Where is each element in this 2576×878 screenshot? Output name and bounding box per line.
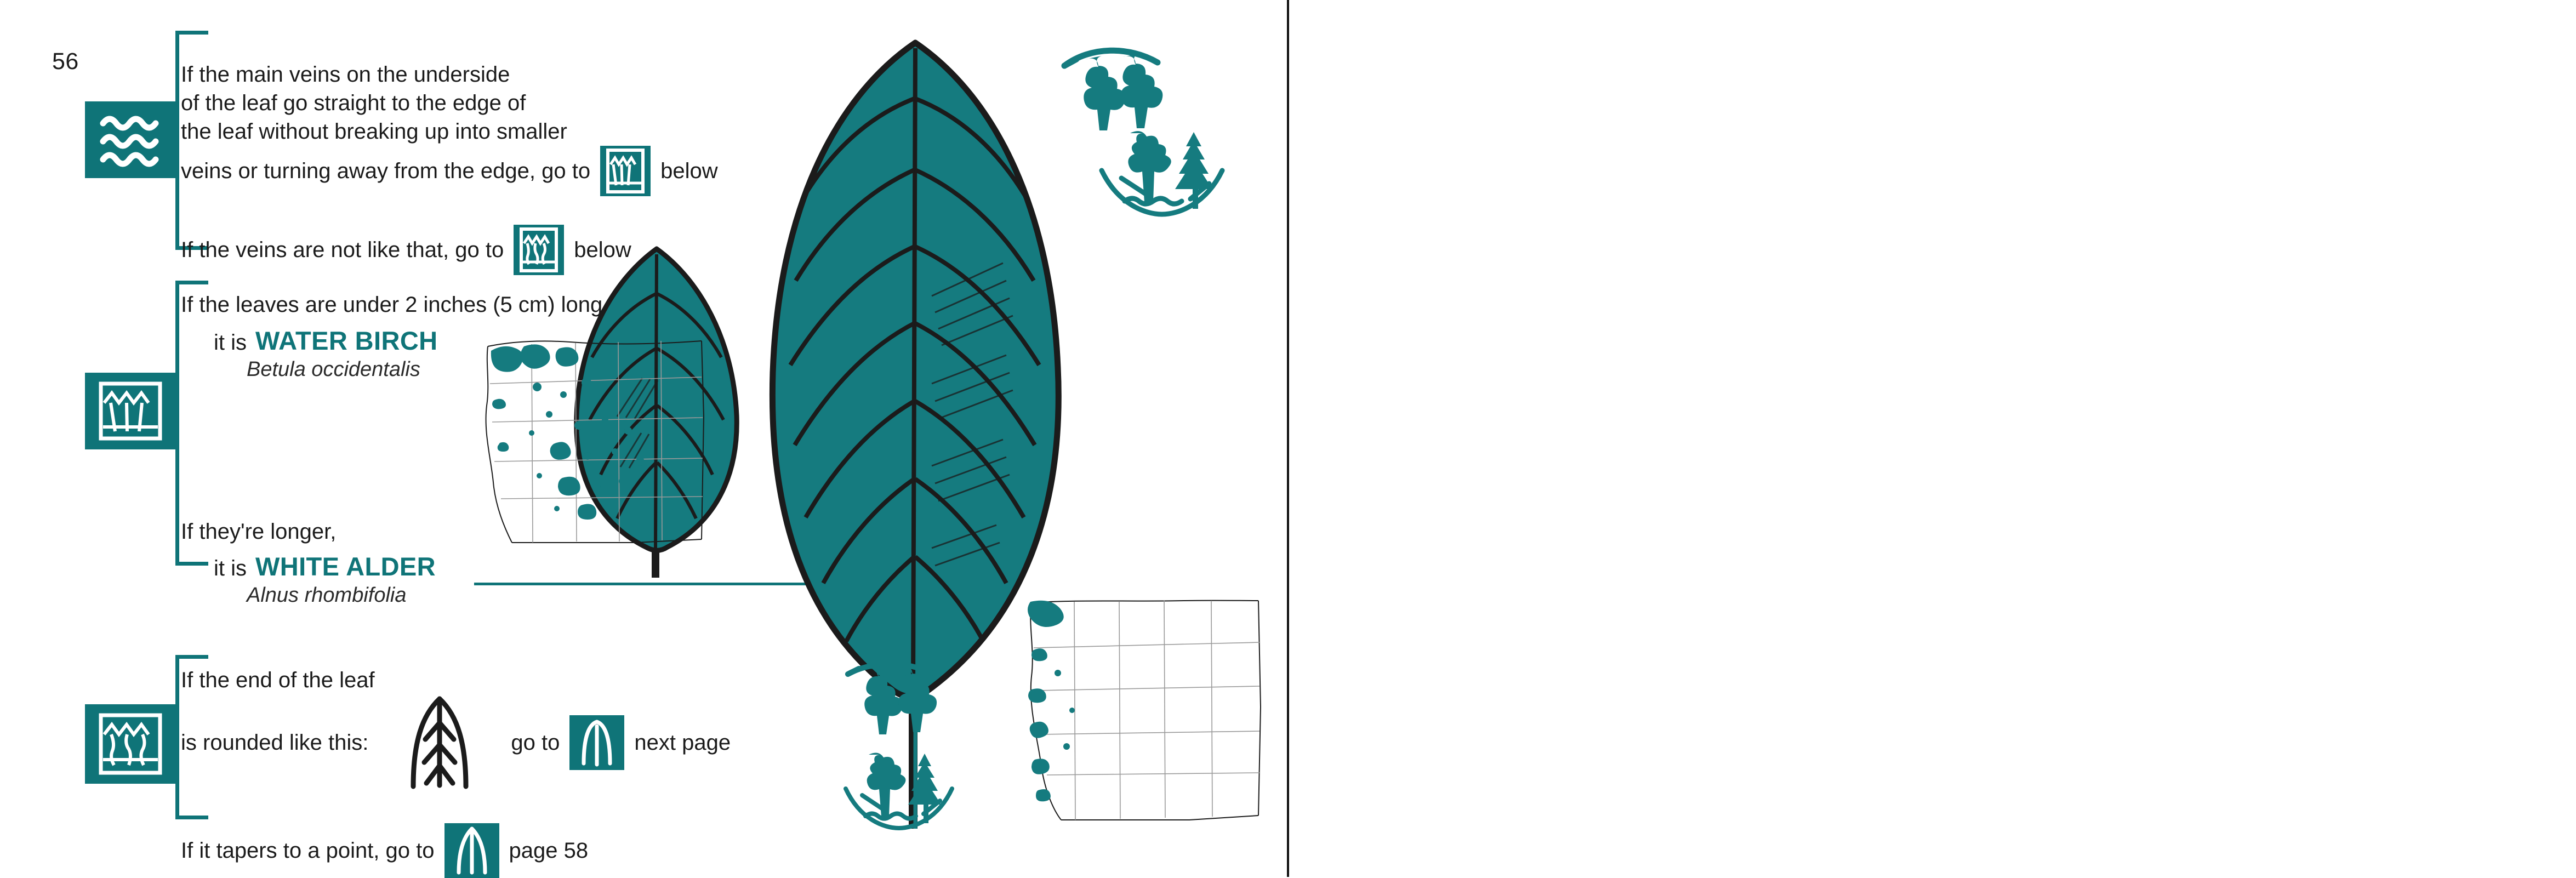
water-birch-range-map [471, 318, 718, 551]
tip-text-block: If the end of the leaf is rounded like t… [181, 666, 731, 878]
size-alt-line: If they're longer, [181, 517, 436, 546]
tip-alt-target: page 58 [509, 836, 589, 865]
bracket-arm-top [175, 31, 208, 35]
species-water-birch: WATER BIRCH [255, 326, 438, 356]
riparian-habitat-icon-left-2 [841, 743, 956, 833]
rounded-base-icon-chip[interactable] [569, 715, 624, 770]
key-tab-branching-veins[interactable] [85, 704, 175, 784]
veins-line-2: of the leaf go straight to the edge of [181, 89, 718, 117]
size-alt-text-block: If they're longer, it is WHITE ALDER Aln… [181, 517, 436, 607]
straight-veins-icon [98, 381, 163, 441]
key-tab-straight-veins[interactable] [85, 373, 175, 449]
tip-goto-label: go to [511, 728, 560, 757]
branching-veins-icon [98, 712, 163, 776]
tip-line-1: If the end of the leaf [181, 666, 731, 694]
key-tab-parallel-veins[interactable] [85, 101, 175, 178]
veins-line-4: veins or turning away from the edge, go … [181, 157, 590, 185]
bracket-spine [175, 281, 179, 566]
veins-line-3: the leaf without breaking up into smalle… [181, 117, 718, 146]
species-white-alder: WHITE ALDER [255, 551, 436, 581]
parallel-veins-icon [98, 111, 163, 169]
page-number-left: 56 [52, 48, 79, 75]
right-page: 57 If the leaf base is wedge-shaped, [1289, 0, 2576, 877]
bracket-spine [175, 655, 179, 819]
book-spread: 56 If the main veins on the underside of [0, 0, 2576, 877]
white-alder-range-map [1019, 597, 1272, 825]
size-lead: it is [214, 330, 247, 355]
size-alt-lead: it is [214, 556, 247, 581]
veins-alt-line: If the veins are not like that, go to [181, 236, 504, 264]
veins-line-1: If the main veins on the underside [181, 60, 718, 89]
straight-veins-icon-chip[interactable] [600, 146, 651, 196]
tip-alt-line: If it tapers to a point, go to [181, 836, 435, 865]
latin-white-alder: Alnus rhombifolia [181, 584, 436, 607]
bracket-arm-top [175, 655, 208, 659]
bracket-arm-top [175, 281, 208, 284]
riparian-habitat-icon-left [1096, 118, 1228, 219]
rounded-leaf-tip-diagram [385, 694, 494, 790]
bracket-spine [175, 31, 179, 250]
tip-line-2: is rounded like this: [181, 728, 368, 757]
pointed-base-icon-chip[interactable] [444, 823, 499, 878]
left-page: 56 If the main veins on the underside of [0, 0, 1288, 877]
size-line-1: If the leaves are under 2 inches (5 cm) … [181, 290, 608, 319]
